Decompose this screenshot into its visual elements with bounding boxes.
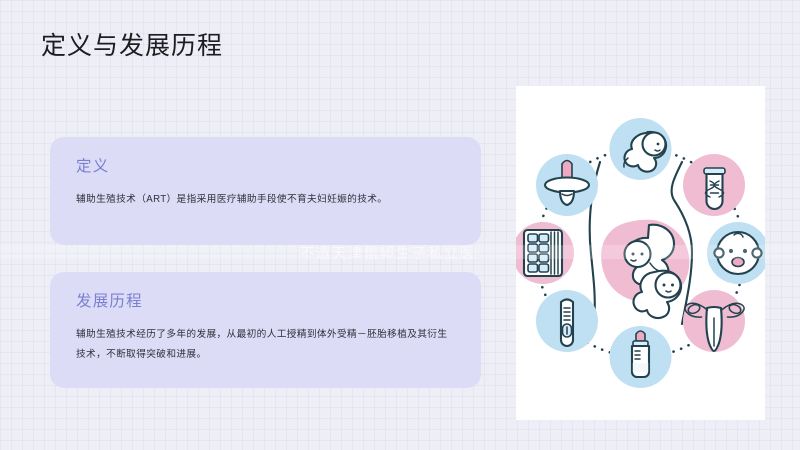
- baby-face-icon: [707, 222, 765, 284]
- uterus-icon: [683, 290, 745, 352]
- slide-canvas: 定义与发展历程 定义 辅助生殖技术（ART）是指采用医疗辅助手段使不育夫妇妊娠的…: [0, 0, 800, 450]
- pregnancy-test-icon: [536, 290, 598, 352]
- fetus-icon: [610, 118, 672, 180]
- pregnant-belly-with-twin-fetuses: [590, 162, 692, 324]
- pacifier-icon: [536, 154, 598, 216]
- art-diagram-svg: .ln { fill:none; stroke:#22424f; stroke-…: [516, 86, 765, 420]
- pill-blister-icon: [516, 222, 574, 284]
- history-card: 发展历程 辅助生殖技术经历了多年的发展，从最初的人工授精到体外受精－胚胎移植及其…: [50, 272, 481, 388]
- definition-card-body: 辅助生殖技术（ART）是指采用医疗辅助手段使不育夫妇妊娠的技术。: [76, 190, 455, 210]
- history-card-heading: 发展历程: [76, 292, 455, 312]
- baby-bottle-icon: [610, 326, 672, 388]
- page-title: 定义与发展历程: [41, 31, 223, 61]
- watermark-text: 不造天津借卵生子私立医: [300, 243, 476, 263]
- definition-card-heading: 定义: [76, 157, 455, 177]
- history-card-body: 辅助生殖技术经历了多年的发展，从最初的人工授精到体外受精－胚胎移植及其衍生技术，…: [76, 325, 455, 365]
- definition-card: 定义 辅助生殖技术（ART）是指采用医疗辅助手段使不育夫妇妊娠的技术。: [50, 137, 481, 245]
- illustration-panel: .ln { fill:none; stroke:#22424f; stroke-…: [516, 86, 765, 420]
- dna-test-tube-icon: [683, 154, 745, 216]
